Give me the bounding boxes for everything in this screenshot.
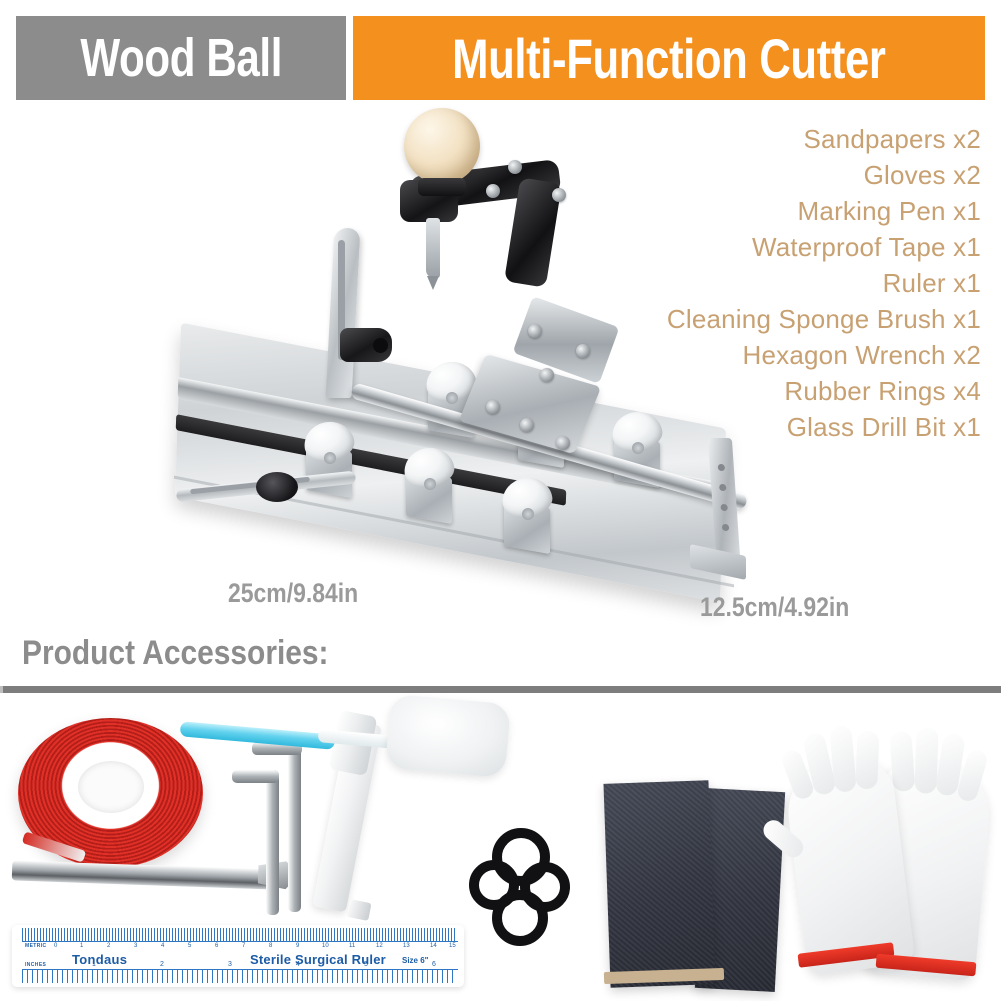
banner-wood-ball: Wood Ball bbox=[16, 16, 346, 100]
ruler-metric-number: 12 bbox=[376, 943, 383, 949]
dimension-width-label: 25cm/9.84in bbox=[228, 578, 358, 609]
ruler-metric-number: 5 bbox=[188, 943, 191, 949]
bolt bbox=[508, 160, 522, 174]
post-hole bbox=[720, 504, 727, 511]
ruler-metric-number: 10 bbox=[322, 943, 329, 949]
list-item: Waterproof Tape x1 bbox=[561, 229, 981, 265]
ruler-metric-number: 0 bbox=[54, 943, 57, 949]
product-infographic: Wood Ball Multi-Function Cutter bbox=[0, 0, 1001, 1001]
ruler-metric-baseline bbox=[22, 941, 458, 942]
accessory-list: Sandpapers x2 Gloves x2 Marking Pen x1 W… bbox=[561, 121, 981, 445]
bolt bbox=[540, 368, 554, 382]
ruler-metric-number: 7 bbox=[242, 943, 245, 949]
ruler-metric-number: 1 bbox=[80, 943, 83, 949]
ruler-metric-number: 6 bbox=[215, 943, 218, 949]
list-item: Cleaning Sponge Brush x1 bbox=[561, 301, 981, 337]
tape-roll-core bbox=[78, 761, 144, 813]
hexagon-wrench bbox=[230, 758, 310, 913]
ruler-metric-number: 3 bbox=[134, 943, 137, 949]
roller-wheel bbox=[496, 478, 558, 550]
ruler-metric-number: 9 bbox=[296, 943, 299, 949]
ruler-metric-ticks bbox=[22, 928, 456, 941]
glove-finger bbox=[855, 731, 879, 790]
banner-multi-function-cutter: Multi-Function Cutter bbox=[353, 16, 985, 100]
ruler-inches-label: INCHES bbox=[25, 962, 46, 968]
list-item: Ruler x1 bbox=[561, 265, 981, 301]
ruler-inch-number: 4 bbox=[296, 961, 300, 968]
ruler-metric-number: 13 bbox=[403, 943, 410, 949]
ruler-inch-number: 5 bbox=[364, 961, 368, 968]
list-item: Sandpapers x2 bbox=[561, 121, 981, 157]
bolt bbox=[486, 184, 500, 198]
ball-collar bbox=[418, 178, 466, 196]
roller-hub bbox=[424, 478, 436, 490]
banner-wood-ball-label: Wood Ball bbox=[80, 27, 282, 89]
list-item: Glass Drill Bit x1 bbox=[561, 409, 981, 445]
bolt bbox=[528, 324, 542, 338]
ruler-metric-number: 15 bbox=[449, 943, 456, 949]
sponge-brush-head bbox=[385, 694, 511, 778]
cutter-blade bbox=[426, 218, 440, 278]
roller-wheel bbox=[398, 448, 460, 520]
wrench-long-arm bbox=[266, 770, 279, 915]
list-item: Marking Pen x1 bbox=[561, 193, 981, 229]
ruler-brand-label: Tondaus bbox=[72, 952, 127, 967]
ruler-inch-number: 2 bbox=[160, 961, 164, 968]
page-title: Product Accessories: bbox=[22, 634, 329, 673]
adjust-knob bbox=[256, 472, 298, 502]
ruler-metric-number: 2 bbox=[107, 943, 110, 949]
ruler-inch-ticks bbox=[22, 970, 456, 983]
ruler-size-label: Size 6" bbox=[402, 956, 428, 965]
locking-knob bbox=[340, 328, 392, 362]
glove-finger bbox=[889, 731, 915, 792]
bolt bbox=[486, 400, 500, 414]
marking-pen-tip bbox=[346, 899, 371, 921]
list-item: Rubber Rings x4 bbox=[561, 373, 981, 409]
roller-hub bbox=[446, 392, 458, 404]
ruler-metric-number: 14 bbox=[430, 943, 437, 949]
sandpaper-sheet bbox=[603, 780, 715, 988]
post-hole bbox=[719, 484, 726, 491]
post-hole bbox=[722, 524, 729, 531]
roller-hub bbox=[522, 508, 534, 520]
ruler-metric-number: 8 bbox=[269, 943, 272, 949]
post-hole bbox=[718, 464, 725, 471]
wrench-short-arm bbox=[232, 770, 279, 783]
ruler-metric-label: METRIC bbox=[25, 943, 47, 949]
list-item: Gloves x2 bbox=[561, 157, 981, 193]
ruler-metric-number: 11 bbox=[349, 943, 355, 949]
ruler-inch-number: 6 bbox=[432, 961, 436, 968]
list-item: Hexagon Wrench x2 bbox=[561, 337, 981, 373]
ruler-inch-number: 1 bbox=[92, 961, 96, 968]
dimension-depth-label: 12.5cm/4.92in bbox=[700, 592, 849, 623]
wood-ball-workpiece bbox=[404, 108, 480, 184]
surgical-ruler: METRIC 0 1 2 3 4 5 6 7 8 9 10 11 12 13 1… bbox=[12, 925, 464, 987]
ruler-metric-number: 4 bbox=[161, 943, 164, 949]
section-divider bbox=[0, 686, 1001, 693]
banner-multi-function-cutter-label: Multi-Function Cutter bbox=[452, 26, 885, 91]
bolt bbox=[520, 418, 534, 432]
rubber-ring bbox=[492, 890, 548, 946]
roller-hub bbox=[324, 452, 336, 464]
ruler-inch-number: 3 bbox=[228, 961, 232, 968]
